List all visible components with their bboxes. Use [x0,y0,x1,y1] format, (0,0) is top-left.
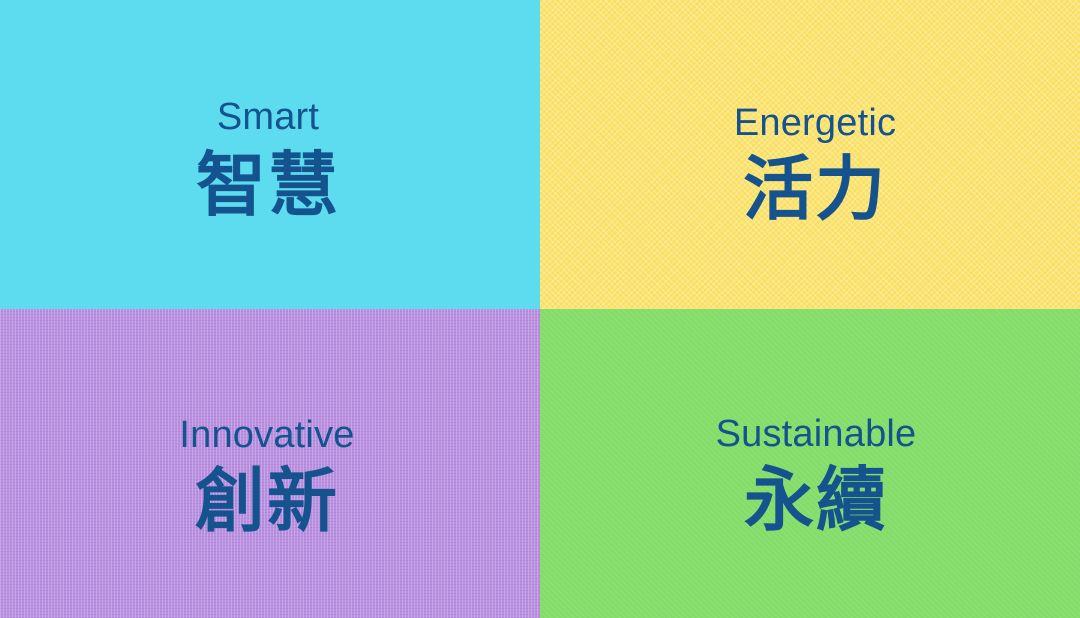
label-english-sustainable: Sustainable [716,415,917,453]
label-english-smart: Smart [217,98,319,136]
label-stack-smart: Smart 智慧 [0,0,538,220]
brand-values-poster: Smart 智慧 Energetic 活力 Innovative 創新 Sust… [0,0,1080,618]
label-chinese-innovative: 創新 [195,466,339,536]
label-chinese-sustainable: 永續 [744,465,888,535]
label-chinese-energetic: 活力 [743,154,887,224]
label-english-energetic: Energetic [734,104,896,142]
label-english-innovative: Innovative [179,416,354,454]
quadrant-energetic: Energetic 活力 [540,0,1080,309]
label-stack-energetic: Energetic 活力 [545,0,1080,224]
quadrant-sustainable: Sustainable 永續 [540,309,1080,618]
quadrant-innovative: Innovative 創新 [0,309,540,618]
label-stack-sustainable: Sustainable 永續 [546,309,1080,535]
label-chinese-smart: 智慧 [196,150,340,220]
label-stack-innovative: Innovative 創新 [0,309,537,536]
quadrant-smart: Smart 智慧 [0,0,540,309]
